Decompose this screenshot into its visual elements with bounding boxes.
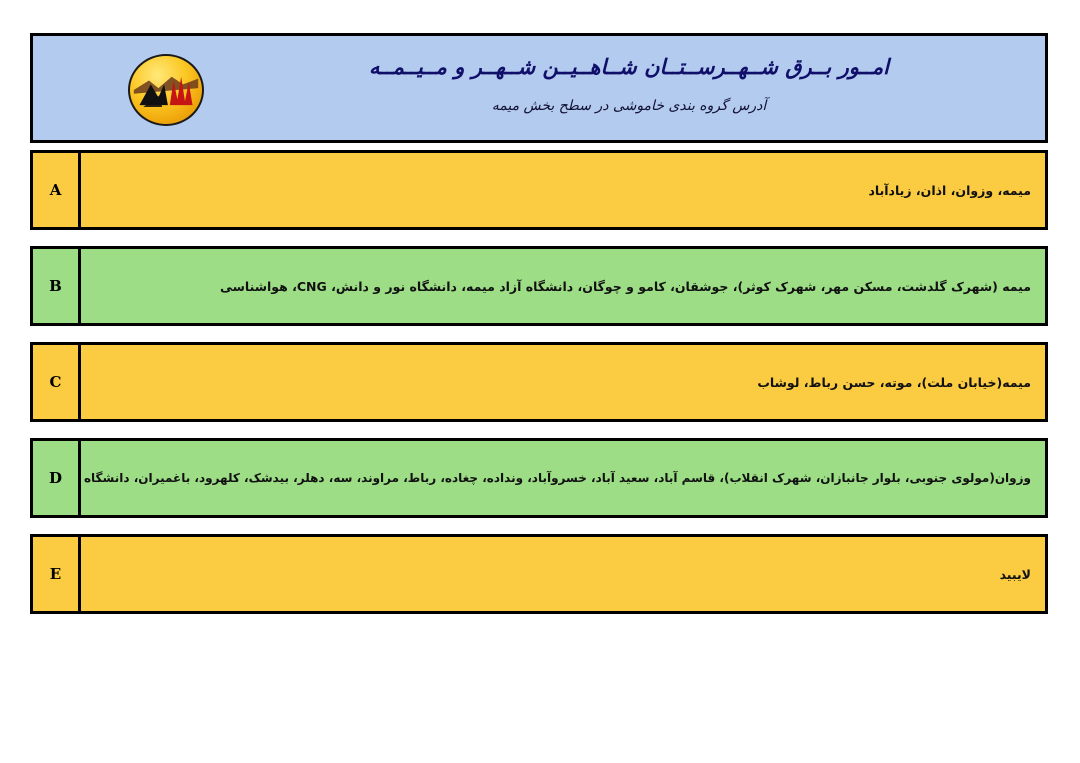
- group-description-cell: وزوان(مولوی جنوبی، بلوار جانبازان، شهرک …: [78, 438, 1048, 518]
- table-row: میمه (شهرک گلدشت، مسکن مهر، شهرک کوثر)، …: [30, 246, 1048, 326]
- group-letter-cell: A: [30, 150, 78, 230]
- group-description-text: میمه (شهرک گلدشت، مسکن مهر، شهرک کوثر)، …: [220, 279, 1031, 294]
- group-description-text: میمه، وزوان، اذان، زیادآباد: [868, 183, 1031, 198]
- group-description-cell: لایبید: [78, 534, 1048, 614]
- table-row: میمه، وزوان، اذان، زیادآباد A: [30, 150, 1048, 230]
- page-subtitle: آدرس گروه بندی خاموشی در سطح بخش میمه: [223, 80, 1035, 114]
- company-logo: [128, 54, 204, 126]
- group-letter-cell: B: [30, 246, 78, 326]
- table-row: لایبید E: [30, 534, 1048, 614]
- group-letter-cell: D: [30, 438, 78, 518]
- header-banner: امــور بــرق شــهــرســتــان شــاهــیــن…: [30, 33, 1048, 143]
- group-description-cell: میمه(خیابان ملت)، موته، حسن رباط، لوشاب: [78, 342, 1048, 422]
- group-description-cell: میمه، وزوان، اذان، زیادآباد: [78, 150, 1048, 230]
- group-description-cell: میمه (شهرک گلدشت، مسکن مهر، شهرک کوثر)، …: [78, 246, 1048, 326]
- table-row: میمه(خیابان ملت)، موته، حسن رباط، لوشاب …: [30, 342, 1048, 422]
- page-title: امــور بــرق شــهــرســتــان شــاهــیــن…: [223, 44, 1035, 80]
- group-letter-cell: C: [30, 342, 78, 422]
- group-table: میمه، وزوان، اذان، زیادآباد A میمه (شهرک…: [30, 150, 1048, 630]
- document-page: امــور بــرق شــهــرســتــان شــاهــیــن…: [0, 0, 1080, 763]
- group-description-text: وزوان(مولوی جنوبی، بلوار جانبازان، شهرک …: [78, 471, 1031, 485]
- company-logo-icon: [128, 54, 204, 126]
- header-title-block: امــور بــرق شــهــرســتــان شــاهــیــن…: [223, 44, 1035, 138]
- group-description-text: میمه(خیابان ملت)، موته، حسن رباط، لوشاب: [757, 375, 1031, 390]
- table-row: وزوان(مولوی جنوبی، بلوار جانبازان، شهرک …: [30, 438, 1048, 518]
- group-description-text: لایبید: [1000, 567, 1031, 582]
- group-letter-cell: E: [30, 534, 78, 614]
